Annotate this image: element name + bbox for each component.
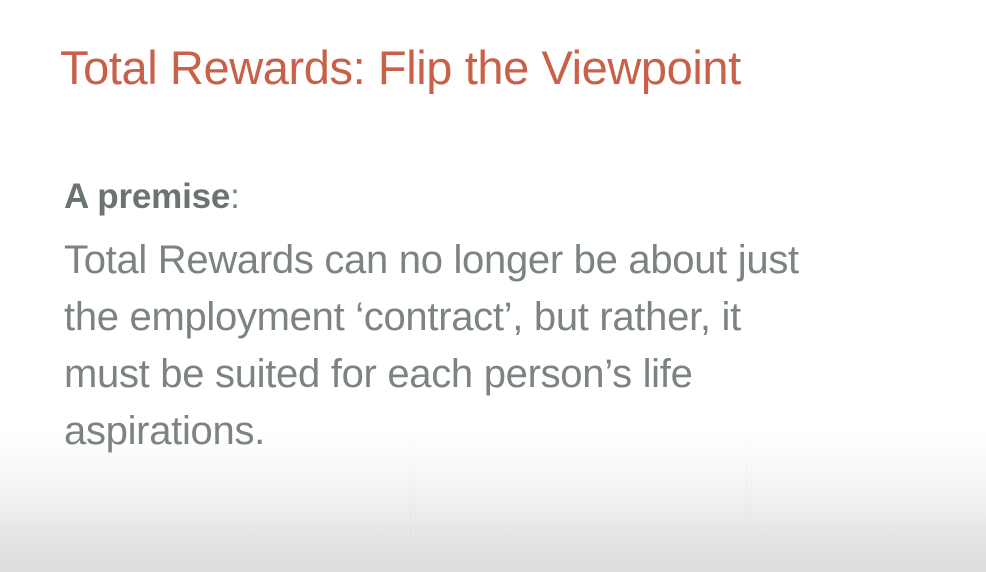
slide-title: Total Rewards: Flip the Viewpoint xyxy=(60,40,741,96)
premise-label: A premise xyxy=(64,177,230,216)
body-line-3: must be suited for each person’s life xyxy=(64,346,964,403)
body-line-4: aspirations. xyxy=(64,403,964,460)
body-line-2: the employment ‘contract’, but rather, i… xyxy=(64,289,964,346)
premise-colon: : xyxy=(230,177,240,216)
body-line-1: Total Rewards can no longer be about jus… xyxy=(64,232,964,289)
presentation-slide: Total Rewards: Flip the Viewpoint A prem… xyxy=(0,0,986,572)
premise-heading: A premise: xyxy=(64,176,964,218)
slide-body: A premise: Total Rewards can no longer b… xyxy=(64,176,964,460)
